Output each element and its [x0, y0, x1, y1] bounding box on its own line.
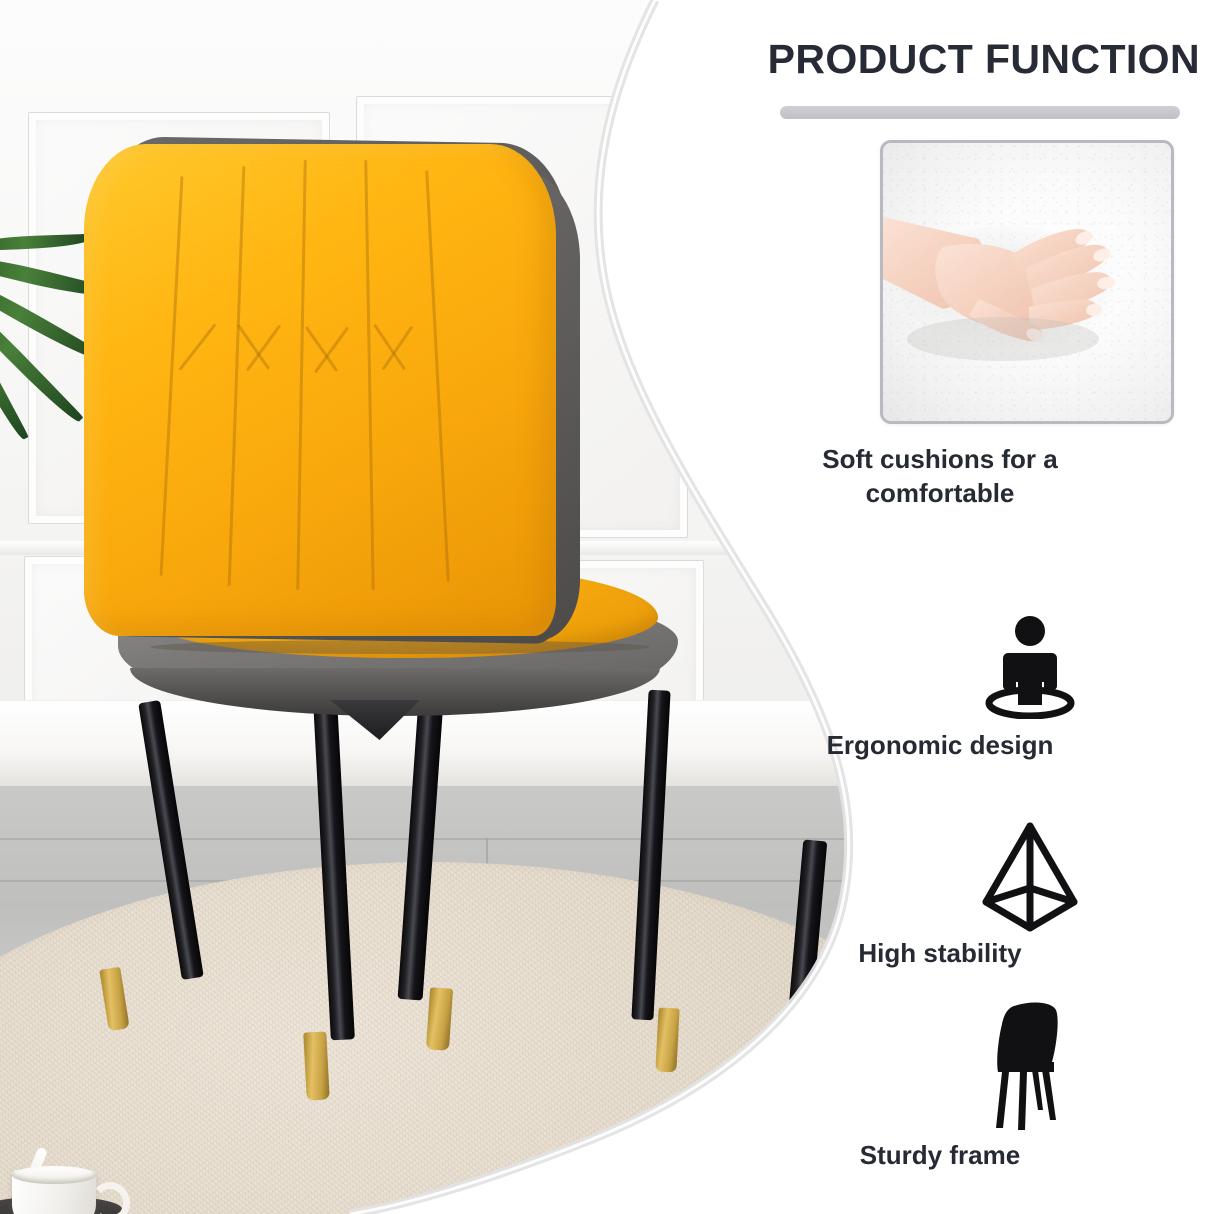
mug-rim — [12, 1166, 96, 1184]
ergonomic-design-caption: Ergonomic design — [780, 730, 1100, 761]
hand-icon — [883, 143, 1171, 421]
chair-leg-tip — [303, 1031, 330, 1100]
chair-leg — [313, 700, 355, 1041]
wireframe-pyramid-icon — [965, 818, 1095, 936]
page-title: PRODUCT FUNCTION — [660, 36, 1200, 83]
chair-leg-tip — [99, 967, 129, 1032]
feature-panel: PRODUCT FUNCTION — [660, 0, 1214, 1214]
caption-line-2: comfortable — [790, 476, 1090, 510]
title-divider — [780, 106, 1180, 119]
chair-leg — [398, 699, 444, 1000]
seat-piping — [150, 640, 650, 654]
chair-leg — [138, 700, 204, 980]
sturdy-frame-caption: Sturdy frame — [790, 1140, 1090, 1171]
high-stability-caption: High stability — [790, 938, 1090, 969]
chair-backrest — [84, 144, 556, 636]
person-in-ring-icon — [965, 612, 1095, 722]
infographic-page: PRODUCT FUNCTION — [0, 0, 1214, 1214]
chair-leg-tip — [426, 987, 453, 1050]
chair-under-bracket — [330, 700, 420, 740]
soft-cushion-photo — [880, 140, 1174, 424]
soft-cushion-caption: Soft cushions for a comfortable — [790, 442, 1090, 510]
chair-silhouette-icon — [965, 1000, 1095, 1132]
caption-line-1: Soft cushions for a — [790, 442, 1090, 476]
